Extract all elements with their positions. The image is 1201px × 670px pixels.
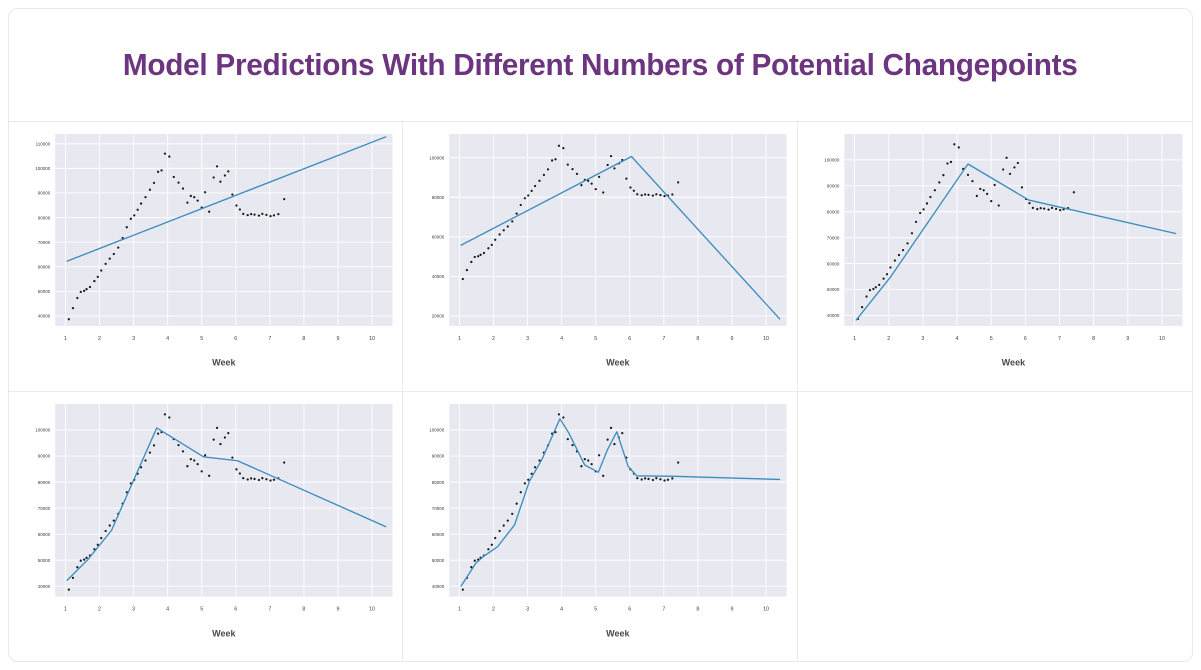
scatter-point: [462, 278, 464, 280]
scatter-point: [626, 178, 628, 180]
x-axis-tick-label: 9: [337, 606, 340, 612]
scatter-point: [861, 306, 863, 308]
scatter-point: [677, 181, 679, 183]
y-axis-tick-label: 60000: [826, 261, 839, 266]
y-axis-tick-label: 60000: [38, 264, 51, 269]
x-axis-tick-label: 1: [64, 606, 67, 612]
scatter-point: [677, 461, 679, 463]
scatter-point: [507, 225, 509, 227]
chart-panel-2: 2000040000600008000010000012345678910Wee…: [403, 122, 797, 392]
scatter-point: [499, 233, 501, 235]
scatter-point: [576, 173, 578, 175]
scatter-point: [109, 524, 111, 526]
scatter-point: [253, 213, 255, 215]
scatter-point: [113, 519, 115, 521]
scatter-point: [204, 191, 206, 193]
scatter-point: [971, 180, 973, 182]
y-axis-tick-label: 60000: [38, 531, 51, 536]
y-axis-tick-label: 100000: [824, 158, 840, 163]
scatter-point: [656, 193, 658, 195]
scatter-point: [126, 226, 128, 228]
scatter-point: [250, 477, 252, 479]
scatter-point: [957, 146, 959, 148]
scatter-point: [177, 443, 179, 445]
scatter-point: [524, 482, 526, 484]
scatter-point: [149, 451, 151, 453]
scatter-point: [953, 143, 955, 145]
plot-area-1: 4000050000600007000080000900001000001100…: [9, 122, 402, 391]
scatter-point: [168, 416, 170, 418]
scatter-point: [527, 478, 529, 480]
x-axis-tick-label: 5: [200, 606, 203, 612]
x-axis-tick-label: 8: [697, 336, 700, 342]
scatter-point: [491, 244, 493, 246]
y-axis-tick-label: 80000: [38, 479, 51, 484]
scatter-point: [97, 276, 99, 278]
scatter-point: [672, 477, 674, 479]
scatter-point: [1013, 166, 1015, 168]
x-axis-tick-label: 7: [663, 606, 666, 612]
scatter-point: [261, 213, 263, 215]
scatter-point: [1039, 207, 1041, 209]
scatter-point: [491, 543, 493, 545]
scatter-point: [886, 273, 888, 275]
scatter-point: [610, 426, 612, 428]
scatter-point: [644, 193, 646, 195]
x-axis-tick-label: 10: [1159, 336, 1165, 342]
scatter-point: [534, 185, 536, 187]
scatter-point: [494, 239, 496, 241]
scatter-point: [581, 184, 583, 186]
scatter-point: [893, 259, 895, 261]
scatter-point: [898, 254, 900, 256]
plot-background: [55, 134, 392, 326]
scatter-point: [117, 246, 119, 248]
scatter-point: [113, 253, 115, 255]
x-axis-tick-label: 3: [526, 336, 529, 342]
scatter-point: [239, 208, 241, 210]
scatter-point: [173, 176, 175, 178]
x-axis-title: Week: [212, 628, 236, 638]
x-axis-title: Week: [212, 358, 236, 368]
scatter-point: [157, 432, 159, 434]
scatter-point: [558, 413, 560, 415]
scatter-point: [480, 254, 482, 256]
chart-card: Model Predictions With Different Numbers…: [8, 8, 1193, 662]
x-axis-tick-label: 9: [731, 606, 734, 612]
scatter-point: [598, 176, 600, 178]
scatter-point: [1036, 208, 1038, 210]
scatter-point: [555, 158, 557, 160]
scatter-point: [503, 524, 505, 526]
x-axis-tick-label: 4: [166, 336, 169, 342]
x-axis-tick-label: 1: [458, 336, 461, 342]
scatter-point: [938, 181, 940, 183]
scatter-point: [543, 174, 545, 176]
y-axis-tick-label: 90000: [826, 183, 839, 188]
scatter-point: [265, 478, 267, 480]
scatter-point: [986, 193, 988, 195]
x-axis-tick-label: 7: [1058, 336, 1061, 342]
scatter-point: [190, 458, 192, 460]
x-axis-tick-label: 2: [98, 606, 101, 612]
chart-panel-3: 4000050000600007000080000900001000001234…: [798, 122, 1192, 392]
scatter-point: [551, 159, 553, 161]
y-axis-tick-label: 70000: [432, 505, 445, 510]
scatter-point: [105, 263, 107, 265]
x-axis-tick-label: 3: [132, 336, 135, 342]
scatter-point: [193, 196, 195, 198]
scatter-point: [997, 204, 999, 206]
scatter-point: [89, 286, 91, 288]
plot-area-5: 4000050000600007000080000900001000001234…: [403, 392, 796, 662]
scatter-point: [76, 566, 78, 568]
scatter-point: [269, 479, 271, 481]
scatter-point: [1016, 162, 1018, 164]
scatter-point: [607, 438, 609, 440]
scatter-point: [273, 214, 275, 216]
scatter-point: [614, 442, 616, 444]
scatter-point: [584, 458, 586, 460]
x-axis-tick-label: 10: [763, 606, 769, 612]
y-axis-tick-label: 80000: [38, 215, 51, 220]
chart-grid: 4000050000600007000080000900001000001100…: [9, 122, 1192, 661]
scatter-point: [477, 255, 479, 257]
scatter-point: [648, 477, 650, 479]
chart-panel-1: 4000050000600007000080000900001000001100…: [9, 122, 403, 392]
plot-area-3: 4000050000600007000080000900001000001234…: [798, 122, 1192, 391]
scatter-point: [208, 474, 210, 476]
scatter-point: [1059, 209, 1061, 211]
scatter-point: [168, 155, 170, 157]
chart-panel-5: 4000050000600007000080000900001000001234…: [403, 392, 797, 662]
scatter-point: [942, 174, 944, 176]
scatter-point: [196, 462, 198, 464]
x-axis-tick-label: 1: [64, 336, 67, 342]
scatter-point: [72, 576, 74, 578]
scatter-point: [1009, 173, 1011, 175]
x-axis-tick-label: 5: [989, 336, 992, 342]
scatter-point: [967, 174, 969, 176]
x-axis-title: Week: [1001, 358, 1025, 368]
x-axis-tick-label: 5: [595, 606, 598, 612]
scatter-point: [547, 168, 549, 170]
scatter-point: [672, 193, 674, 195]
scatter-point: [1051, 207, 1053, 209]
scatter-point: [76, 297, 78, 299]
y-axis-tick-label: 40000: [432, 274, 445, 279]
scatter-point: [1047, 209, 1049, 211]
y-axis-tick-label: 100000: [430, 427, 446, 432]
scatter-point: [874, 286, 876, 288]
y-axis-tick-label: 20000: [432, 314, 445, 319]
scatter-point: [462, 588, 464, 590]
x-axis-tick-label: 4: [166, 606, 169, 612]
scatter-point: [100, 269, 102, 271]
chart-svg-5: 4000050000600007000080000900001000001234…: [403, 392, 796, 662]
scatter-point: [878, 284, 880, 286]
x-axis-tick-label: 9: [731, 336, 734, 342]
scatter-point: [602, 191, 604, 193]
x-axis-tick-label: 9: [1126, 336, 1129, 342]
scatter-point: [153, 444, 155, 446]
y-axis-tick-label: 40000: [432, 583, 445, 588]
x-axis-tick-label: 10: [763, 336, 769, 342]
x-axis-tick-label: 2: [887, 336, 890, 342]
scatter-point: [130, 218, 132, 220]
x-axis-title: Week: [606, 628, 630, 638]
scatter-point: [660, 194, 662, 196]
scatter-point: [636, 477, 638, 479]
x-axis-tick-label: 3: [921, 336, 924, 342]
scatter-point: [182, 450, 184, 452]
scatter-point: [990, 200, 992, 202]
scatter-point: [471, 261, 473, 263]
scatter-point: [258, 478, 260, 480]
scatter-point: [664, 479, 666, 481]
scatter-point: [949, 161, 951, 163]
scatter-point: [567, 163, 569, 165]
y-axis-tick-label: 100000: [430, 155, 446, 160]
chart-svg-4: 4000050000600007000080000900001000001234…: [9, 392, 402, 662]
scatter-point: [865, 295, 867, 297]
scatter-point: [595, 188, 597, 190]
scatter-point: [889, 266, 891, 268]
scatter-point: [648, 194, 650, 196]
scatter-point: [1020, 186, 1022, 188]
scatter-point: [1072, 191, 1074, 193]
x-axis-tick-label: 4: [955, 336, 958, 342]
scatter-point: [946, 162, 948, 164]
scatter-point: [906, 242, 908, 244]
scatter-point: [602, 474, 604, 476]
scatter-point: [919, 212, 921, 214]
x-axis-tick-label: 2: [492, 606, 495, 612]
scatter-point: [177, 182, 179, 184]
scatter-point: [531, 472, 533, 474]
scatter-point: [100, 536, 102, 538]
scatter-point: [269, 215, 271, 217]
scatter-point: [213, 176, 215, 178]
y-axis-tick-label: 60000: [432, 531, 445, 536]
scatter-point: [140, 202, 142, 204]
scatter-point: [1002, 168, 1004, 170]
scatter-point: [144, 196, 146, 198]
x-axis-tick-label: 6: [629, 606, 632, 612]
scatter-point: [922, 208, 924, 210]
x-axis-tick-label: 3: [132, 606, 135, 612]
scatter-point: [83, 558, 85, 560]
scatter-point: [926, 202, 928, 204]
scatter-point: [273, 478, 275, 480]
scatter-point: [239, 472, 241, 474]
x-axis-tick-label: 8: [302, 606, 305, 612]
scatter-point: [227, 431, 229, 433]
x-axis-tick-label: 7: [663, 336, 666, 342]
scatter-point: [614, 167, 616, 169]
plot-area-4: 4000050000600007000080000900001000001234…: [9, 392, 402, 662]
scatter-point: [667, 478, 669, 480]
scatter-point: [982, 189, 984, 191]
scatter-point: [83, 290, 85, 292]
x-axis-title: Week: [606, 358, 630, 368]
scatter-point: [539, 180, 541, 182]
y-axis-tick-label: 80000: [826, 209, 839, 214]
scatter-point: [979, 188, 981, 190]
x-axis-tick-label: 6: [1024, 336, 1027, 342]
scatter-point: [591, 462, 593, 464]
y-axis-tick-label: 80000: [432, 479, 445, 484]
scatter-point: [633, 190, 635, 192]
x-axis-tick-label: 5: [595, 336, 598, 342]
scatter-point: [1055, 208, 1057, 210]
scatter-point: [144, 459, 146, 461]
scatter-point: [93, 280, 95, 282]
scatter-point: [283, 198, 285, 200]
scatter-point: [636, 193, 638, 195]
scatter-point: [527, 194, 529, 196]
scatter-point: [208, 211, 210, 213]
scatter-point: [242, 213, 244, 215]
scatter-point: [1005, 157, 1007, 159]
card-header: Model Predictions With Different Numbers…: [9, 9, 1192, 122]
scatter-point: [250, 213, 252, 215]
scatter-point: [68, 588, 70, 590]
plot-area-2: 2000040000600008000010000012345678910Wee…: [403, 122, 796, 391]
scatter-point: [652, 195, 654, 197]
scatter-point: [247, 214, 249, 216]
y-axis-tick-label: 50000: [38, 289, 51, 294]
scatter-point: [85, 288, 87, 290]
y-axis-tick-label: 70000: [826, 235, 839, 240]
scatter-point: [516, 502, 518, 504]
y-axis-tick-label: 60000: [432, 234, 445, 239]
scatter-point: [474, 559, 476, 561]
scatter-point: [587, 459, 589, 461]
y-axis-tick-label: 40000: [38, 583, 51, 588]
scatter-point: [581, 465, 583, 467]
scatter-point: [910, 232, 912, 234]
scatter-point: [902, 249, 904, 251]
x-axis-tick-label: 6: [234, 606, 237, 612]
x-axis-tick-label: 6: [629, 336, 632, 342]
scatter-point: [247, 478, 249, 480]
scatter-point: [235, 204, 237, 206]
x-axis-tick-label: 10: [369, 606, 375, 612]
scatter-point: [219, 181, 221, 183]
scatter-point: [109, 258, 111, 260]
scatter-point: [283, 461, 285, 463]
chart-svg-2: 2000040000600008000010000012345678910Wee…: [403, 122, 796, 391]
x-axis-tick-label: 1: [458, 606, 461, 612]
scatter-point: [929, 196, 931, 198]
scatter-point: [511, 220, 513, 222]
scatter-point: [72, 307, 74, 309]
scatter-point: [621, 431, 623, 433]
scatter-point: [531, 190, 533, 192]
scatter-point: [1043, 207, 1045, 209]
scatter-point: [630, 186, 632, 188]
plot-background: [844, 134, 1182, 326]
scatter-point: [242, 477, 244, 479]
y-axis-tick-label: 80000: [432, 195, 445, 200]
y-axis-tick-label: 100000: [35, 166, 51, 171]
y-axis-tick-label: 90000: [38, 453, 51, 458]
scatter-point: [219, 442, 221, 444]
scatter-point: [868, 289, 870, 291]
scatter-point: [610, 155, 612, 157]
scatter-point: [68, 318, 70, 320]
scatter-point: [520, 491, 522, 493]
y-axis-tick-label: 50000: [826, 287, 839, 292]
scatter-point: [213, 438, 215, 440]
scatter-point: [186, 201, 188, 203]
scatter-point: [196, 199, 198, 201]
scatter-point: [474, 256, 476, 258]
x-axis-tick-label: 1: [853, 336, 856, 342]
scatter-point: [80, 291, 82, 293]
scatter-point: [915, 221, 917, 223]
scatter-point: [201, 470, 203, 472]
scatter-point: [660, 478, 662, 480]
chart-svg-1: 4000050000600007000080000900001000001100…: [9, 122, 402, 391]
scatter-point: [231, 193, 233, 195]
scatter-point: [591, 182, 593, 184]
scatter-point: [641, 194, 643, 196]
x-axis-tick-label: 3: [526, 606, 529, 612]
y-axis-tick-label: 90000: [38, 191, 51, 196]
scatter-point: [641, 478, 643, 480]
scatter-point: [507, 519, 509, 521]
scatter-point: [563, 416, 565, 418]
scatter-point: [572, 168, 574, 170]
page-title: Model Predictions With Different Numbers…: [123, 47, 1078, 83]
plot-background: [450, 134, 787, 326]
x-axis-tick-label: 2: [98, 336, 101, 342]
scatter-point: [133, 214, 135, 216]
x-axis-tick-label: 7: [268, 336, 271, 342]
scatter-point: [993, 184, 995, 186]
scatter-point: [204, 454, 206, 456]
scatter-point: [160, 169, 162, 171]
scatter-point: [137, 209, 139, 211]
scatter-point: [664, 195, 666, 197]
x-axis-tick-label: 4: [560, 606, 563, 612]
scatter-point: [652, 478, 654, 480]
scatter-point: [277, 213, 279, 215]
scatter-point: [558, 145, 560, 147]
scatter-point: [503, 229, 505, 231]
scatter-point: [872, 288, 874, 290]
x-axis-tick-label: 5: [200, 336, 203, 342]
scatter-point: [231, 456, 233, 458]
x-axis-tick-label: 7: [268, 606, 271, 612]
scatter-point: [466, 269, 468, 271]
scatter-point: [261, 477, 263, 479]
y-axis-tick-label: 40000: [38, 314, 51, 319]
scatter-point: [524, 197, 526, 199]
scatter-point: [157, 171, 159, 173]
scatter-point: [265, 214, 267, 216]
scatter-point: [80, 559, 82, 561]
x-axis-tick-label: 9: [337, 336, 340, 342]
scatter-point: [607, 164, 609, 166]
scatter-point: [499, 529, 501, 531]
scatter-point: [224, 174, 226, 176]
x-axis-tick-label: 10: [369, 336, 375, 342]
scatter-point: [572, 443, 574, 445]
x-axis-tick-label: 8: [302, 336, 305, 342]
